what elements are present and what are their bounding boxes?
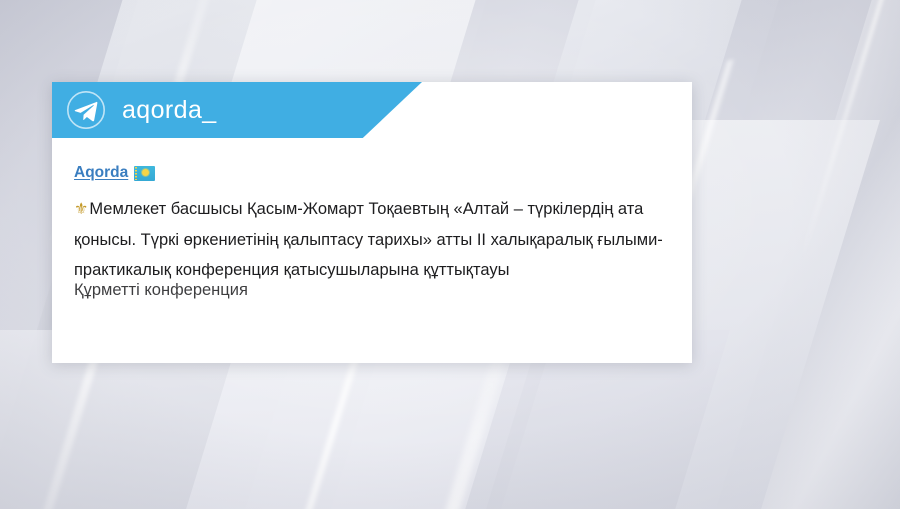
card-header: aqorda_: [52, 82, 692, 138]
screenshot-stage: aqorda_ Aqorda ⚜Мемлекет басшысы Қасым-Ж…: [0, 0, 900, 509]
post-message: ⚜Мемлекет басшысы Қасым-Жомарт Тоқаевтың…: [74, 194, 668, 285]
header-banner: [52, 82, 422, 138]
post-message-text: Мемлекет басшысы Қасым-Жомарт Тоқаевтың …: [74, 200, 663, 279]
kazakhstan-flag-icon: [134, 166, 155, 181]
channel-name: aqorda_: [122, 82, 217, 138]
clipped-next-line: Құрметті конференция: [74, 279, 374, 301]
telegram-post-card: aqorda_ Aqorda ⚜Мемлекет басшысы Қасым-Ж…: [52, 82, 692, 363]
fleur-de-lis-icon: ⚜: [74, 201, 88, 218]
card-body: Aqorda ⚜Мемлекет басшысы Қасым-Жомарт То…: [52, 138, 692, 285]
source-link[interactable]: Aqorda: [74, 164, 128, 182]
source-row: Aqorda: [74, 164, 668, 182]
telegram-icon: [66, 90, 106, 130]
